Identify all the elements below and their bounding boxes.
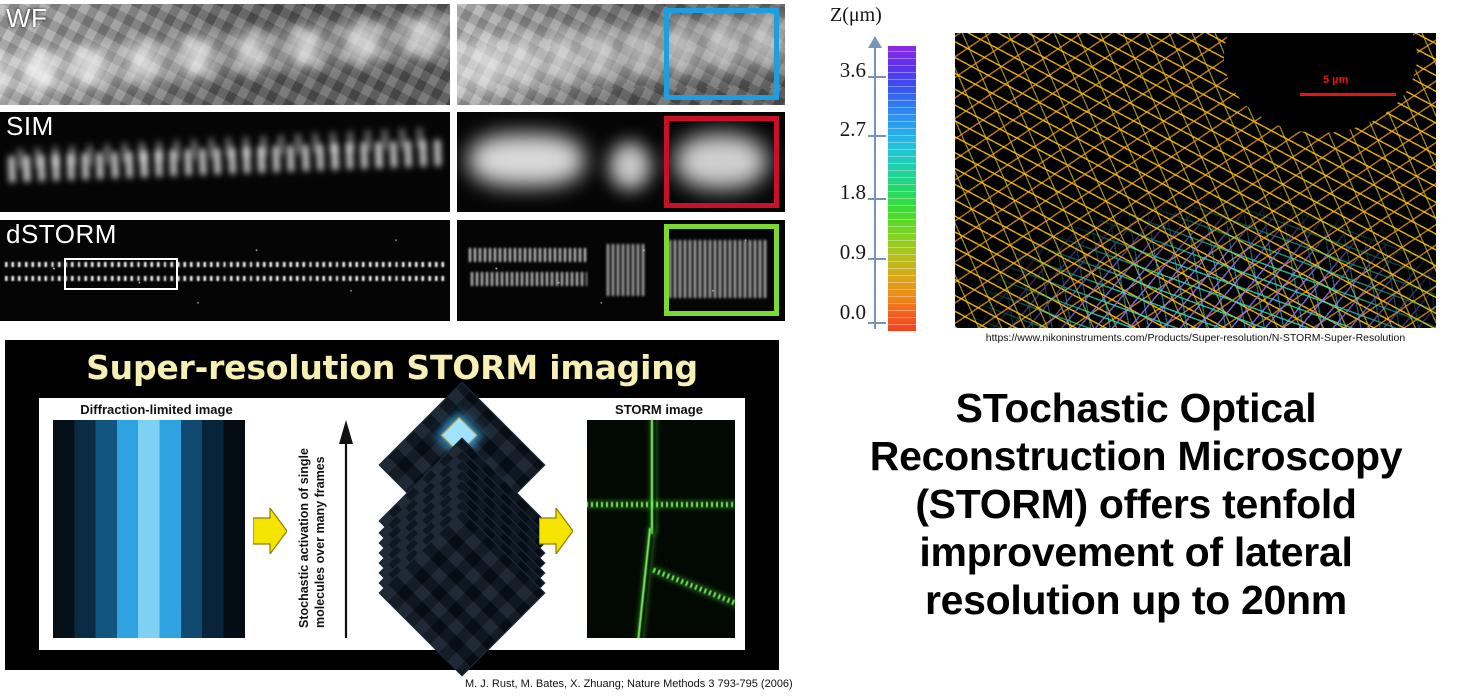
- z-colorbar-group: Z(μm) 3.6 2.7 1.8 0.9 0.0: [800, 0, 940, 340]
- wf-label: WF: [6, 5, 47, 32]
- z-tick-label: 3.6: [804, 58, 866, 83]
- storm-reconstructed-image: [587, 420, 735, 638]
- storm-diagram-card: Super-resolution STORM imaging Diffracti…: [5, 340, 779, 670]
- mt-cool-field: [955, 166, 1436, 328]
- z-tick-line: [868, 258, 886, 260]
- sim-blob-mid: [609, 142, 651, 190]
- sim-background: [0, 112, 450, 212]
- wf-zoom-strip: [457, 4, 785, 105]
- z-axis-line: [874, 47, 876, 329]
- storm-fiber-lower-vertical: [637, 528, 654, 638]
- headline-line: (STORM) offers tenfold: [806, 481, 1466, 529]
- headline-line: improvement of lateral: [806, 529, 1466, 577]
- storm-fiber-diagonal: [652, 568, 735, 618]
- dstorm-highlight-box: [664, 224, 779, 316]
- arrow-right-1: [253, 508, 287, 554]
- z-tick-line: [868, 322, 886, 324]
- dstorm-cluster-left-lower: [471, 272, 587, 286]
- dstorm-label: dSTORM: [6, 221, 117, 248]
- scale-bar: [1300, 93, 1396, 96]
- process-label-line-2: molecules over many frames: [313, 456, 327, 628]
- dstorm-cluster-left: [469, 248, 587, 262]
- dstorm-zoom-strip: [457, 220, 785, 321]
- z-tick-line: [868, 198, 886, 200]
- storm-image-caption: STORM image: [579, 402, 739, 417]
- process-arrow-up: [337, 420, 355, 638]
- headline-line: STochastic Optical: [806, 385, 1466, 433]
- slide-root: WF SIM dSTORM: [0, 0, 1469, 698]
- sim-wide-strip: SIM: [0, 112, 450, 212]
- dstorm-cluster-mid: [607, 244, 647, 296]
- z-tick-label: 0.0: [804, 300, 866, 325]
- process-label-line-1: Stochastic activation of single: [297, 448, 311, 628]
- z-tick-line: [868, 76, 886, 78]
- storm-diagram-inner-panel: Diffraction-limited image Stochastic act…: [39, 398, 745, 650]
- headline-line: Reconstruction Microscopy: [806, 433, 1466, 481]
- wf-highlight-box: [664, 8, 779, 100]
- storm-diagram-title: Super-resolution STORM imaging: [5, 348, 779, 387]
- headline-block: STochastic Optical Reconstruction Micros…: [806, 385, 1466, 625]
- nstorm-source-url: https://www.nikoninstruments.com/Product…: [955, 332, 1436, 344]
- z-depth-colorbar: [888, 46, 916, 331]
- z-axis-title: Z(μm): [830, 4, 882, 27]
- sim-highlight-box: [664, 116, 779, 208]
- z-tick-label: 0.9: [804, 240, 866, 265]
- sim-zoom-strip: [457, 112, 785, 212]
- z-tick-label: 1.8: [804, 180, 866, 205]
- sim-label: SIM: [6, 113, 54, 140]
- z-tick-line: [868, 135, 886, 137]
- diagram-citation: M. J. Rust, M. Bates, X. Zhuang; Nature …: [465, 678, 793, 690]
- z-tick-label: 2.7: [804, 117, 866, 142]
- diffraction-limited-image: [53, 420, 245, 638]
- scale-bar-label: 5 µm: [1323, 74, 1348, 86]
- wf-wide-strip: WF: [0, 4, 450, 105]
- nstorm-microtubule-image: 5 µm: [955, 33, 1436, 328]
- storm-fiber-vertical: [651, 420, 656, 534]
- dstorm-roi-box: [64, 258, 178, 290]
- headline-line: resolution up to 20nm: [806, 577, 1466, 625]
- dstorm-wide-strip: dSTORM: [0, 220, 450, 321]
- storm-fiber-horizontal: [587, 502, 735, 507]
- diffraction-limited-caption: Diffraction-limited image: [49, 402, 264, 417]
- arrow-right-2: [539, 508, 573, 554]
- sim-blob-left: [469, 134, 584, 186]
